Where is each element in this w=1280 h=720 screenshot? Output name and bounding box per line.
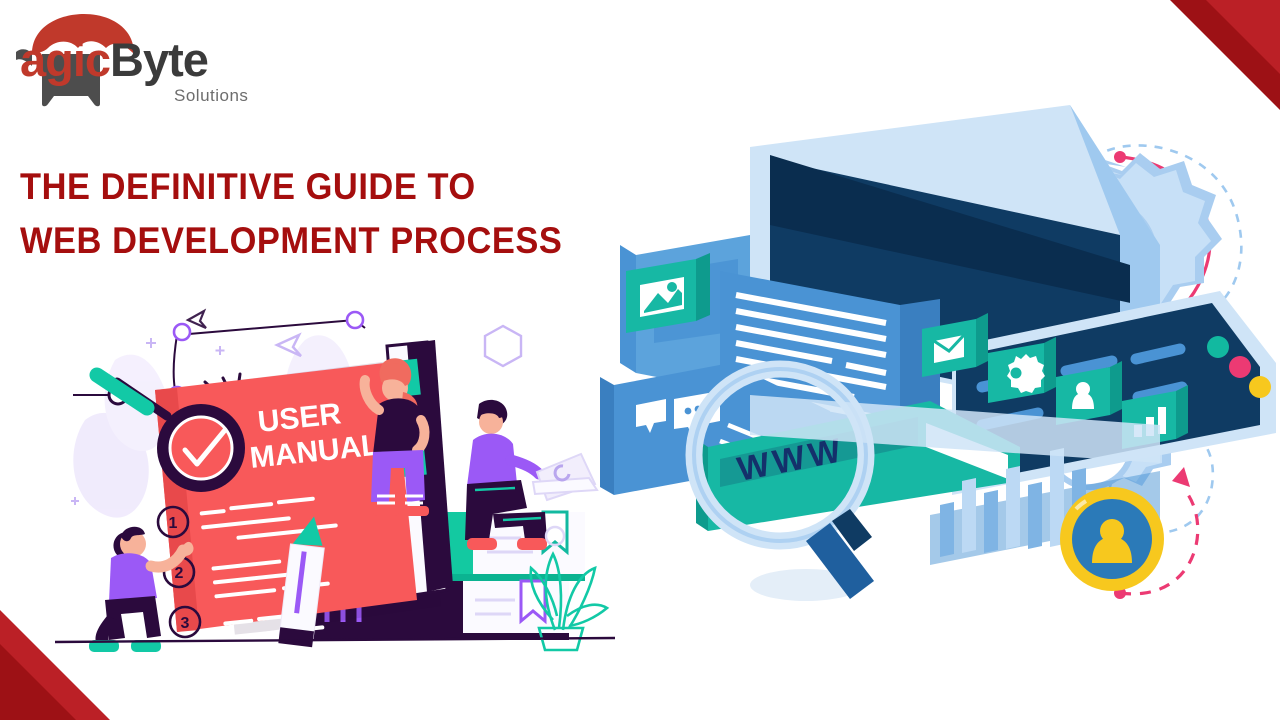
svg-text:1: 1 [169, 515, 178, 532]
logo-wordmark: agicByte [20, 36, 208, 83]
logo-word-magic: agic [20, 33, 110, 86]
shoe [467, 538, 497, 550]
page-title-line-2: WEB DEVELOPMENT PROCESS [20, 214, 597, 268]
send-arrow-icon [277, 335, 301, 356]
user-manual-illustration: USER MANUAL 1 2 3 [55, 300, 615, 650]
user-coin-badge [1060, 487, 1164, 591]
corner-triangle-dark [0, 644, 76, 720]
frame-node [347, 312, 363, 328]
frame-node [174, 324, 190, 340]
shoe [373, 506, 399, 516]
corner-ribbon-top-right [1170, 0, 1280, 110]
cube-icon [485, 326, 521, 366]
corner-triangle-light [1206, 0, 1280, 74]
shoe [403, 506, 429, 516]
svg-text:3: 3 [181, 615, 190, 632]
send-arrow-icon [188, 311, 206, 328]
window-dot-2 [1229, 356, 1251, 378]
shoe [517, 538, 547, 550]
page-title: THE DEFINITIVE GUIDE TO WEB DEVELOPMENT … [20, 160, 640, 267]
logo-tagline: Solutions [174, 86, 248, 106]
web-development-illustration: WWW [600, 95, 1280, 625]
poster-canvas: agicByte Solutions THE DEFINITIVE GUIDE … [0, 0, 1280, 720]
window-dot-3 [1249, 376, 1271, 398]
brand-logo[interactable]: agicByte Solutions [14, 8, 284, 108]
window-dot-1 [1207, 336, 1229, 358]
page-title-line-1: THE DEFINITIVE GUIDE TO [20, 160, 597, 214]
svg-text:2: 2 [175, 565, 184, 582]
logo-word-byte: Byte [110, 33, 208, 86]
